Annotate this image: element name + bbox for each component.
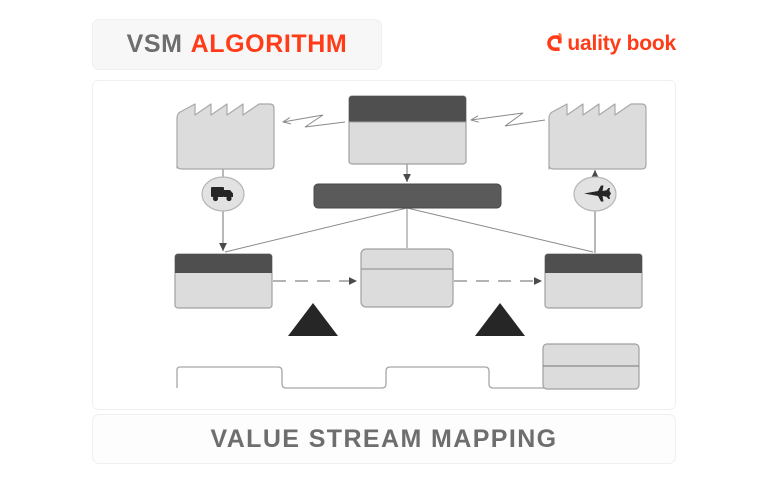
vsm-diagram-panel bbox=[92, 80, 676, 410]
page-title-pill: VSMALGORITHM bbox=[92, 19, 382, 70]
page-title: VSMALGORITHM bbox=[127, 30, 348, 59]
node-supplier-factory[interactable] bbox=[177, 104, 274, 169]
stylized-q-icon bbox=[544, 32, 566, 56]
node-process-box-1[interactable] bbox=[175, 254, 272, 308]
node-inventory-triangle-1[interactable] bbox=[288, 303, 338, 336]
connector-schedule-to-processes bbox=[225, 208, 593, 252]
connector-info-flow-supplier-to-control bbox=[283, 115, 345, 127]
screenshot-root: VSMALGORITHM uality book bbox=[0, 0, 768, 484]
connector-info-flow-customer-to-control bbox=[471, 113, 545, 126]
page-subtitle: VALUE STREAM MAPPING bbox=[211, 425, 558, 454]
node-timeline-summary-box[interactable] bbox=[543, 344, 639, 389]
node-customer-factory[interactable] bbox=[549, 104, 646, 169]
page-title-vsm: VSM bbox=[127, 30, 183, 58]
brand-logo-text: uality book bbox=[567, 32, 676, 56]
page-subtitle-pill: VALUE STREAM MAPPING bbox=[92, 414, 676, 464]
page-title-algorithm: ALGORITHM bbox=[191, 30, 348, 58]
node-process-box-2[interactable] bbox=[361, 249, 453, 307]
node-inventory-triangle-2[interactable] bbox=[475, 303, 525, 336]
timeline-ladder bbox=[177, 367, 545, 388]
node-production-schedule-bar[interactable] bbox=[314, 184, 501, 208]
node-production-control-box[interactable] bbox=[349, 96, 466, 164]
icon-truck-badge[interactable] bbox=[202, 177, 244, 211]
icon-airplane-badge[interactable] bbox=[574, 177, 616, 211]
vsm-diagram-svg bbox=[93, 81, 675, 409]
brand-logo[interactable]: uality book bbox=[544, 30, 676, 58]
node-process-box-3[interactable] bbox=[545, 254, 642, 308]
